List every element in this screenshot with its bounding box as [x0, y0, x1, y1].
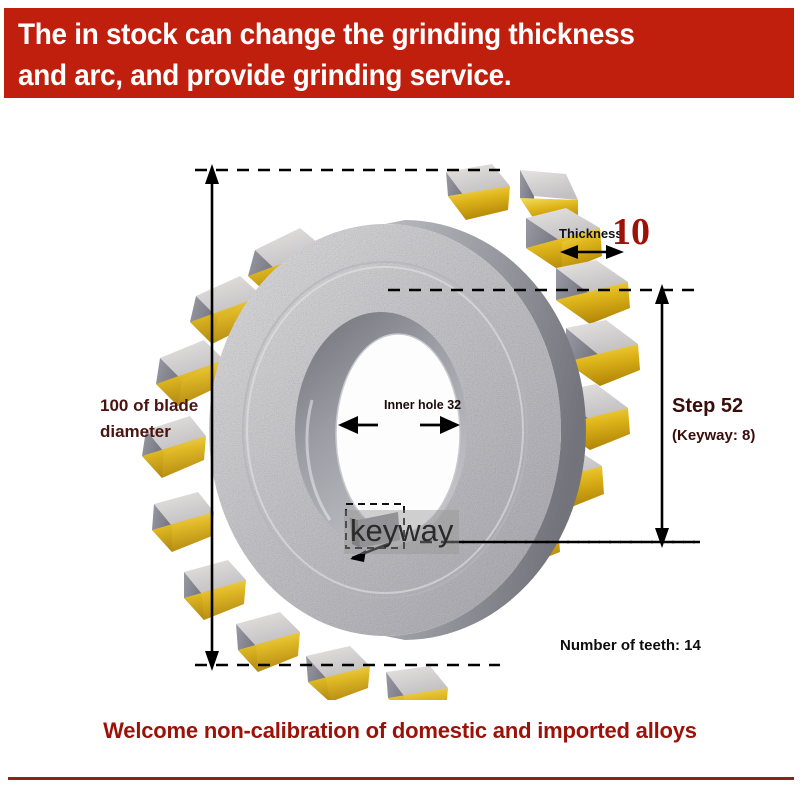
label-keyway: keyway	[344, 510, 459, 554]
label-step: Step 52	[672, 395, 743, 418]
banner-line-1: The in stock can change the grinding thi…	[18, 14, 730, 55]
label-teeth-count: Number of teeth: 14	[560, 637, 701, 654]
footer-divider	[8, 777, 794, 780]
header-banner: The in stock can change the grinding thi…	[4, 8, 794, 98]
label-step-keyway: (Keyway: 8)	[672, 427, 755, 444]
label-inner-hole: Inner hole 32	[384, 398, 461, 412]
footer-slogan: Welcome non-calibration of domestic and …	[0, 718, 800, 744]
banner-line-2: and arc, and provide grinding service.	[18, 55, 730, 96]
label-blade-diameter: 100 of blade diameter	[100, 393, 210, 445]
product-infographic: The in stock can change the grinding thi…	[0, 0, 800, 800]
label-thickness-value: 10	[612, 213, 650, 251]
